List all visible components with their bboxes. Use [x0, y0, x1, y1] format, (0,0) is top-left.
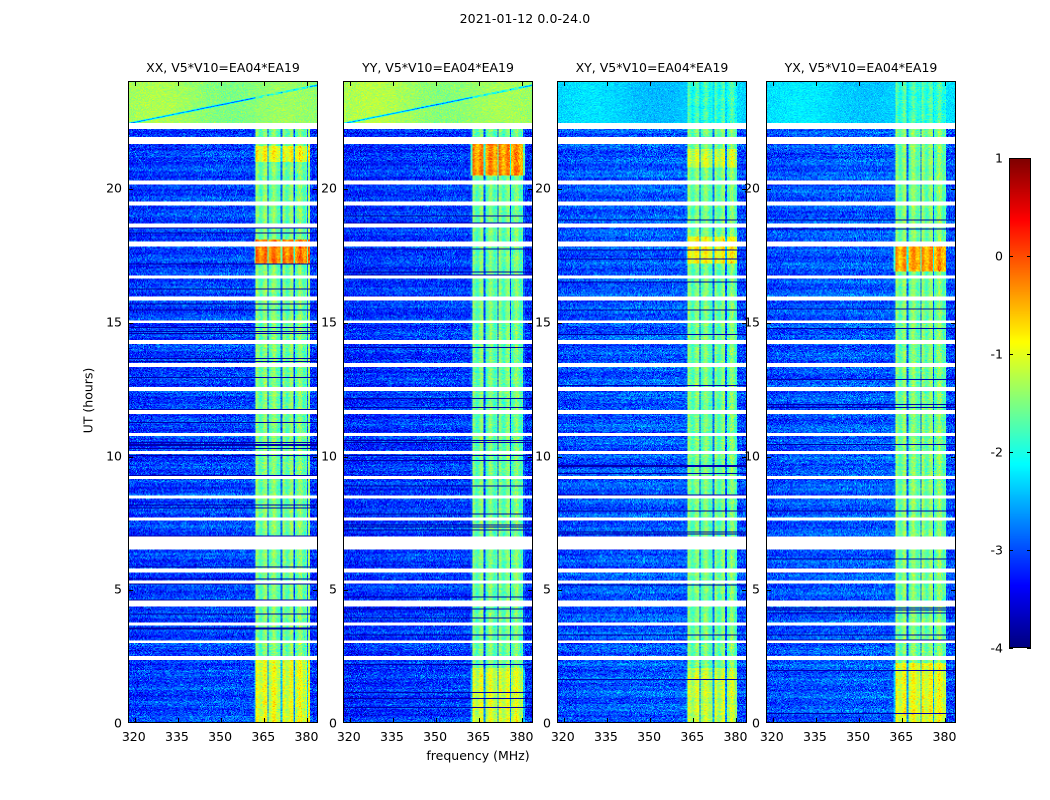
colorbar-tick-label-5: 1	[969, 151, 1003, 166]
colorbar-tick-right-4	[1027, 256, 1031, 257]
y-tick-label-yx-3: 15	[726, 314, 760, 329]
x-tick-top-xy-1	[607, 82, 608, 86]
y-tick-label-yy-4: 20	[303, 181, 337, 196]
x-tick-xx-3	[264, 718, 265, 722]
y-tick-yx-2	[767, 457, 771, 458]
x-tick-top-xy-4	[736, 82, 737, 86]
waterfall-image-yy	[343, 81, 533, 723]
figure-canvas: 2021-01-12 0.0-24.0 XX, V5*V10=EA04*EA19…	[0, 0, 1050, 800]
colorbar-tick-0	[1009, 648, 1013, 649]
x-tick-label-yy-4: 380	[510, 729, 534, 744]
x-tick-label-yx-1: 335	[803, 729, 827, 744]
x-tick-label-yx-0: 320	[760, 729, 784, 744]
x-tick-xy-3	[693, 718, 694, 722]
colorbar-gradient	[1009, 158, 1031, 648]
y-tick-yx-3	[767, 323, 771, 324]
y-tick-xx-2	[129, 457, 133, 458]
y-tick-right-yx-4	[951, 189, 955, 190]
x-tick-xx-2	[221, 718, 222, 722]
x-tick-top-xy-0	[564, 82, 565, 86]
y-tick-yy-3	[344, 323, 348, 324]
panel-xy[interactable]: XY, V5*V10=EA04*EA19	[557, 81, 747, 723]
x-tick-yx-3	[902, 718, 903, 722]
figure-suptitle: 2021-01-12 0.0-24.0	[0, 11, 1050, 26]
y-tick-label-xx-0: 0	[88, 716, 122, 731]
x-tick-top-yx-4	[945, 82, 946, 86]
colorbar-tick-5	[1009, 158, 1013, 159]
x-tick-xy-2	[650, 718, 651, 722]
x-tick-top-xy-3	[693, 82, 694, 86]
x-tick-yx-4	[945, 718, 946, 722]
x-tick-label-yy-1: 335	[380, 729, 404, 744]
y-tick-label-yx-1: 5	[726, 582, 760, 597]
x-tick-top-yx-1	[816, 82, 817, 86]
colorbar-tick-label-0: -4	[969, 641, 1003, 656]
x-tick-top-xx-4	[307, 82, 308, 86]
y-tick-label-yx-2: 10	[726, 448, 760, 463]
x-tick-top-xx-1	[178, 82, 179, 86]
panel-xx[interactable]: XX, V5*V10=EA04*EA19	[128, 81, 318, 723]
x-tick-yy-1	[393, 718, 394, 722]
x-tick-label-yy-2: 350	[423, 729, 447, 744]
y-tick-label-xy-3: 15	[517, 314, 551, 329]
x-tick-label-yx-4: 380	[933, 729, 957, 744]
y-tick-yy-1	[344, 590, 348, 591]
x-tick-label-xy-3: 365	[680, 729, 704, 744]
y-tick-label-yx-0: 0	[726, 716, 760, 731]
y-tick-yx-4	[767, 189, 771, 190]
x-tick-yx-2	[859, 718, 860, 722]
colorbar-tick-label-1: -3	[969, 543, 1003, 558]
y-tick-label-xy-0: 0	[517, 716, 551, 731]
y-tick-label-xx-2: 10	[88, 448, 122, 463]
panel-yy[interactable]: YY, V5*V10=EA04*EA19	[343, 81, 533, 723]
x-tick-label-xy-1: 335	[594, 729, 618, 744]
x-tick-xx-0	[135, 718, 136, 722]
x-tick-label-yy-0: 320	[337, 729, 361, 744]
x-tick-label-xy-4: 380	[724, 729, 748, 744]
panel-title-yx: YX, V5*V10=EA04*EA19	[726, 60, 996, 75]
x-tick-label-yx-2: 350	[846, 729, 870, 744]
x-tick-top-yy-4	[522, 82, 523, 86]
y-tick-label-yy-1: 5	[303, 582, 337, 597]
y-tick-label-yy-3: 15	[303, 314, 337, 329]
x-tick-xy-0	[564, 718, 565, 722]
x-tick-top-yx-3	[902, 82, 903, 86]
colorbar-tick-right-0	[1027, 648, 1031, 649]
colorbar-tick-right-5	[1027, 158, 1031, 159]
y-tick-xy-4	[558, 189, 562, 190]
x-tick-yy-3	[479, 718, 480, 722]
x-tick-yy-2	[436, 718, 437, 722]
y-tick-label-xx-4: 20	[88, 181, 122, 196]
x-tick-top-yy-2	[436, 82, 437, 86]
x-tick-top-xx-3	[264, 82, 265, 86]
x-tick-top-yy-3	[479, 82, 480, 86]
y-tick-right-yx-2	[951, 457, 955, 458]
x-tick-yx-0	[773, 718, 774, 722]
y-tick-right-yx-3	[951, 323, 955, 324]
colorbar-tick-label-3: -1	[969, 347, 1003, 362]
colorbar-tick-1	[1009, 550, 1013, 551]
x-tick-top-yy-0	[350, 82, 351, 86]
x-tick-yy-0	[350, 718, 351, 722]
y-tick-right-yx-1	[951, 590, 955, 591]
waterfall-image-yx	[766, 81, 956, 723]
x-tick-label-xx-0: 320	[122, 729, 146, 744]
x-tick-label-yx-3: 365	[889, 729, 913, 744]
y-tick-xx-4	[129, 189, 133, 190]
y-tick-label-yy-2: 10	[303, 448, 337, 463]
x-tick-label-xx-3: 365	[251, 729, 275, 744]
x-tick-top-yy-1	[393, 82, 394, 86]
x-tick-top-xy-2	[650, 82, 651, 86]
colorbar-tick-4	[1009, 256, 1013, 257]
waterfall-image-xy	[557, 81, 747, 723]
panel-yx[interactable]: YX, V5*V10=EA04*EA19	[766, 81, 956, 723]
x-tick-top-yx-0	[773, 82, 774, 86]
y-tick-label-xx-3: 15	[88, 314, 122, 329]
y-tick-label-xx-1: 5	[88, 582, 122, 597]
y-tick-label-xy-4: 20	[517, 181, 551, 196]
y-tick-xy-2	[558, 457, 562, 458]
colorbar-tick-label-4: 0	[969, 249, 1003, 264]
x-tick-xy-1	[607, 718, 608, 722]
y-tick-xy-3	[558, 323, 562, 324]
y-tick-xx-1	[129, 590, 133, 591]
y-tick-label-xy-1: 5	[517, 582, 551, 597]
x-tick-top-yx-2	[859, 82, 860, 86]
colorbar-tick-right-2	[1027, 452, 1031, 453]
x-tick-label-yy-3: 365	[466, 729, 490, 744]
colorbar[interactable]: -4-3-2-101 log10 amplitude	[1009, 158, 1031, 648]
colorbar-tick-2	[1009, 452, 1013, 453]
y-tick-label-yy-0: 0	[303, 716, 337, 731]
x-axis-label: frequency (MHz)	[0, 748, 956, 763]
y-tick-xx-3	[129, 323, 133, 324]
x-tick-top-xx-0	[135, 82, 136, 86]
colorbar-tick-3	[1009, 354, 1013, 355]
x-tick-top-xx-2	[221, 82, 222, 86]
x-tick-label-xy-2: 350	[637, 729, 661, 744]
y-tick-yy-4	[344, 189, 348, 190]
y-tick-yx-1	[767, 590, 771, 591]
x-tick-label-xx-1: 335	[165, 729, 189, 744]
colorbar-tick-right-3	[1027, 354, 1031, 355]
x-tick-yx-1	[816, 718, 817, 722]
x-tick-label-xx-4: 380	[295, 729, 319, 744]
colorbar-tick-right-1	[1027, 550, 1031, 551]
x-tick-label-xx-2: 350	[208, 729, 232, 744]
colorbar-tick-label-2: -2	[969, 445, 1003, 460]
waterfall-image-xx	[128, 81, 318, 723]
x-tick-label-xy-0: 320	[551, 729, 575, 744]
y-tick-label-yx-4: 20	[726, 181, 760, 196]
y-tick-label-xy-2: 10	[517, 448, 551, 463]
y-tick-xy-1	[558, 590, 562, 591]
y-tick-yy-2	[344, 457, 348, 458]
x-tick-xx-1	[178, 718, 179, 722]
